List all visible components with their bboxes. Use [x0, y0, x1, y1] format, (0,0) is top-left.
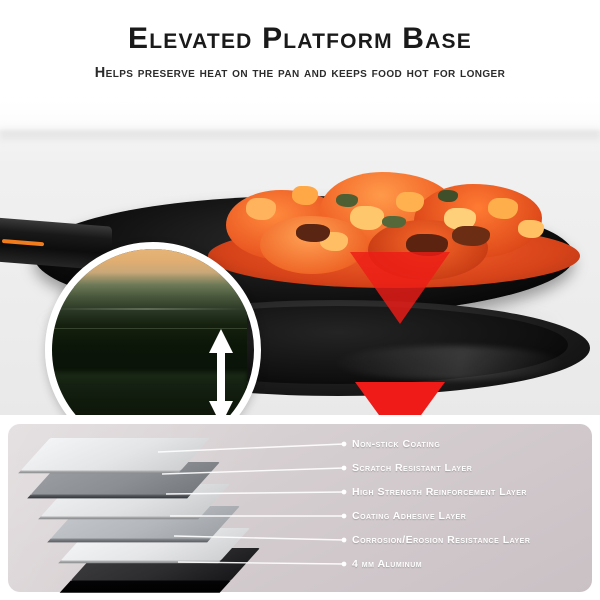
food-meat — [296, 224, 330, 242]
food-herb — [336, 194, 358, 207]
food-herb — [438, 190, 458, 202]
skillet-highlight — [334, 346, 564, 380]
leader-line — [178, 562, 344, 564]
food-herb — [382, 216, 406, 228]
backdrop-horizon — [0, 126, 600, 142]
handle-accent-stripe — [2, 239, 44, 246]
layer-label: 4 mm Aluminum — [352, 558, 422, 570]
page-title: Elevated Platform Base — [0, 22, 600, 56]
layer-label: Scratch Resistant Layer — [352, 462, 472, 474]
leader-line — [174, 536, 344, 540]
food-chunk — [350, 206, 384, 230]
layer-label: Corrosion/Erosion Resistance Layer — [352, 534, 530, 546]
infographic-canvas: Elevated Platform Base Helps preserve he… — [0, 0, 600, 600]
leader-line — [162, 468, 344, 474]
food-chunk — [396, 192, 424, 212]
header-block: Elevated Platform Base Helps preserve he… — [0, 0, 600, 100]
layer-label-list: Non-stick CoatingScratch Resistant Layer… — [352, 424, 592, 592]
platform-seam — [45, 308, 247, 310]
leader-dot — [342, 490, 347, 495]
leader-dot — [342, 442, 347, 447]
food-chunk — [246, 198, 276, 220]
leader-dot — [342, 562, 347, 567]
layer-label: Non-stick Coating — [352, 438, 440, 450]
page-subtitle: Helps preserve heat on the pan and keeps… — [0, 64, 600, 82]
hero-photo-band — [0, 100, 600, 415]
food-meat — [452, 226, 490, 246]
layer-label: High Strength Reinforcement Layer — [352, 486, 527, 498]
leader-line — [166, 492, 344, 494]
food-chunk — [292, 186, 318, 205]
leader-dot — [342, 466, 347, 471]
leader-line — [158, 444, 344, 452]
layer-label: Coating Adhesive Layer — [352, 510, 466, 522]
height-indicator-arrow — [204, 327, 238, 415]
food-chunk — [518, 220, 544, 238]
leader-dot — [342, 538, 347, 543]
magnifier-loupe — [45, 242, 261, 415]
food-chunk — [488, 198, 518, 219]
red-pointer-triangle-lower — [355, 382, 445, 415]
red-pointer-triangle-upper — [350, 252, 450, 324]
leader-dot — [342, 514, 347, 519]
